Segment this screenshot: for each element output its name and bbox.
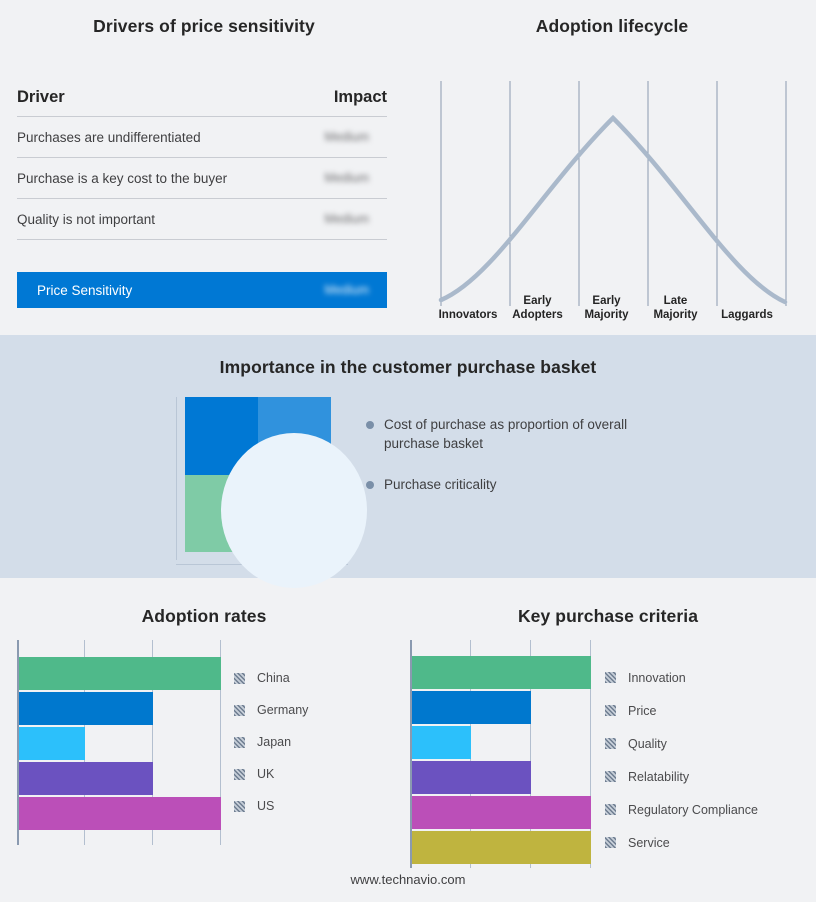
legend-label: Service <box>628 836 670 850</box>
adoption-bar-chart: China Germany Japan UK US <box>0 640 408 860</box>
legend-item: US <box>234 790 308 822</box>
basket-legend-label: Purchase criticality <box>384 475 497 494</box>
hatch-swatch-icon <box>605 804 616 815</box>
hatch-swatch-icon <box>605 705 616 716</box>
lifecycle-curve-chart <box>433 78 791 308</box>
quadrant-matrix <box>176 397 352 565</box>
table-row: Quality is not important Medium <box>17 199 387 240</box>
legend-label: Japan <box>257 735 291 749</box>
adoption-bar-china <box>19 657 221 690</box>
legend-item: Germany <box>234 694 308 726</box>
criteria-bar-quality <box>412 726 471 759</box>
key-purchase-criteria-panel: Key purchase criteria Innovation Price <box>400 578 816 878</box>
list-item: Purchase criticality <box>366 475 666 494</box>
legend-label: UK <box>257 767 274 781</box>
legend-item: Regulatory Compliance <box>605 793 758 826</box>
adoption-title: Adoption rates <box>0 606 408 627</box>
lifecycle-bell-curve <box>441 118 785 302</box>
lifecycle-svg <box>433 78 791 308</box>
criteria-bar-regulatory-compliance <box>412 796 591 829</box>
basket-legend-label: Cost of purchase as proportion of overal… <box>384 415 666 453</box>
hatch-swatch-icon <box>234 737 245 748</box>
adoption-bar-japan <box>19 727 85 760</box>
hatch-swatch-icon <box>234 769 245 780</box>
adoption-bar-uk <box>19 762 153 795</box>
criteria-plot-area <box>410 640 592 868</box>
impact-value: Medium <box>325 130 387 144</box>
drivers-title: Drivers of price sensitivity <box>0 16 408 37</box>
criteria-bar-chart: Innovation Price Quality Relatability Re… <box>400 640 816 880</box>
legend-item: China <box>234 662 308 694</box>
lifecycle-stage-laggards: Laggards <box>710 309 784 323</box>
legend-item: Innovation <box>605 661 758 694</box>
adoption-legend: China Germany Japan UK US <box>234 662 308 822</box>
column-header-driver: Driver <box>17 88 65 107</box>
legend-label: US <box>257 799 274 813</box>
criteria-bar-service <box>412 831 591 864</box>
legend-item: UK <box>234 758 308 790</box>
lifecycle-stage-late-majority: Late Majority <box>641 295 710 322</box>
basket-legend: Cost of purchase as proportion of overal… <box>366 415 666 516</box>
adoption-bar-us <box>19 797 221 830</box>
legend-label: Price <box>628 704 656 718</box>
impact-value: Medium <box>325 171 387 185</box>
hatch-swatch-icon <box>234 801 245 812</box>
lifecycle-title: Adoption lifecycle <box>408 16 816 37</box>
column-header-impact: Impact <box>334 88 387 107</box>
driver-label: Purchase is a key cost to the buyer <box>17 171 227 186</box>
legend-item: Japan <box>234 726 308 758</box>
lifecycle-stage-innovators: Innovators <box>433 309 503 323</box>
purchase-basket-panel: Importance in the customer purchase bask… <box>0 335 816 578</box>
legend-label: Regulatory Compliance <box>628 803 758 817</box>
legend-label: Germany <box>257 703 308 717</box>
adoption-rates-panel: Adoption rates China Germany J <box>0 578 408 878</box>
legend-item: Service <box>605 826 758 859</box>
legend-label: Innovation <box>628 671 686 685</box>
bullet-icon <box>366 421 374 429</box>
bullet-icon <box>366 481 374 489</box>
hatch-swatch-icon <box>605 672 616 683</box>
legend-item: Price <box>605 694 758 727</box>
impact-value: Medium <box>325 212 387 226</box>
lifecycle-stage-early-majority: Early Majority <box>572 295 641 322</box>
driver-label: Quality is not important <box>17 212 155 227</box>
criteria-legend: Innovation Price Quality Relatability Re… <box>605 661 758 859</box>
quadrant-y-axis <box>176 397 177 560</box>
price-sensitivity-summary-row: Price Sensitivity Medium <box>17 272 387 308</box>
criteria-bar-price <box>412 691 531 724</box>
lifecycle-dividers <box>441 81 786 306</box>
criteria-title: Key purchase criteria <box>400 606 816 627</box>
lifecycle-stage-early-adopters: Early Adopters <box>503 295 572 322</box>
legend-item: Quality <box>605 727 758 760</box>
criteria-bar-innovation <box>412 656 591 689</box>
drivers-table: Driver Impact Purchases are undifferenti… <box>17 88 387 240</box>
lifecycle-panel: Adoption lifecycle Innovators Early Adop… <box>408 0 816 335</box>
table-row: Purchases are undifferentiated Medium <box>17 117 387 158</box>
hatch-swatch-icon <box>234 673 245 684</box>
legend-label: China <box>257 671 290 685</box>
adoption-plot-area <box>17 640 221 845</box>
legend-label: Quality <box>628 737 667 751</box>
adoption-bar-germany <box>19 692 153 725</box>
summary-label: Price Sensitivity <box>17 283 132 298</box>
hatch-swatch-icon <box>605 771 616 782</box>
drivers-panel: Drivers of price sensitivity Driver Impa… <box>0 0 408 335</box>
quadrant-cells <box>185 397 331 552</box>
hatch-swatch-icon <box>605 738 616 749</box>
criteria-bar-relatability <box>412 761 531 794</box>
summary-impact-value: Medium <box>325 283 387 297</box>
legend-item: Relatability <box>605 760 758 793</box>
legend-label: Relatability <box>628 770 689 784</box>
hatch-swatch-icon <box>605 837 616 848</box>
table-header-row: Driver Impact <box>17 88 387 117</box>
table-row: Purchase is a key cost to the buyer Medi… <box>17 158 387 199</box>
lifecycle-stage-labels: Innovators Early Adopters Early Majority… <box>433 282 791 322</box>
list-item: Cost of purchase as proportion of overal… <box>366 415 666 453</box>
footer-url: www.technavio.com <box>0 872 816 887</box>
basket-title: Importance in the customer purchase bask… <box>0 357 816 378</box>
hatch-swatch-icon <box>234 705 245 716</box>
driver-label: Purchases are undifferentiated <box>17 130 201 145</box>
position-marker-icon <box>221 433 367 588</box>
